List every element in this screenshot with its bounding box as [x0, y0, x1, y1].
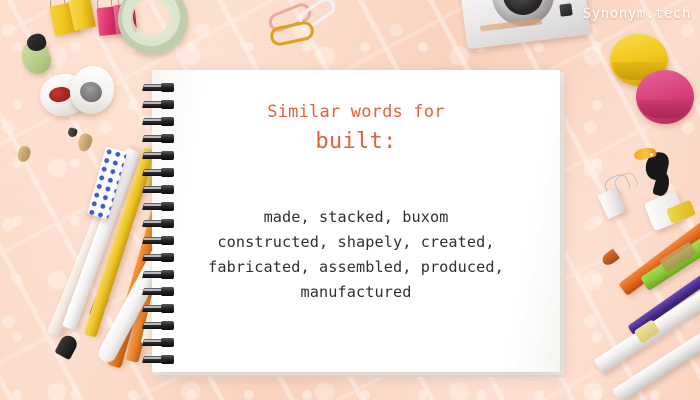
page-title-prefix: Similar words for — [152, 101, 560, 124]
spiral-ring — [143, 339, 181, 346]
camera-button — [559, 3, 572, 16]
spiral-ring-highlight — [144, 119, 162, 121]
spiral-ring-highlight — [144, 323, 162, 325]
synonym-line: constructed, shapely, created, — [178, 230, 534, 255]
synonym-list: made, stacked, buxom constructed, shapel… — [152, 205, 560, 305]
spiral-ring-highlight — [144, 306, 162, 308]
spiral-ring — [143, 322, 181, 329]
spiral-ring-highlight — [144, 136, 162, 138]
spiral-ring-highlight — [144, 340, 162, 342]
spiral-ring — [143, 203, 181, 210]
spiral-ring — [143, 220, 181, 227]
brand-watermark: Synonym.tech — [583, 6, 691, 22]
screenshot-root: Similar words for built: made, stacked, … — [0, 0, 700, 400]
spiral-ring-highlight — [144, 221, 162, 223]
spiral-ring-highlight — [144, 357, 162, 359]
spiral-ring — [143, 101, 181, 108]
spiral-ring-highlight — [144, 255, 162, 257]
spiral-ring-highlight — [144, 153, 162, 155]
spiral-ring-highlight — [144, 204, 162, 206]
spiral-ring-highlight — [144, 238, 162, 240]
spiral-ring-highlight — [144, 289, 162, 291]
spiral-ring — [143, 135, 181, 142]
spiral-ring-highlight — [144, 170, 162, 172]
synonym-line: fabricated, assembled, produced, — [178, 255, 534, 280]
spiral-ring — [143, 254, 181, 261]
synonym-line: made, stacked, buxom — [178, 205, 534, 230]
notebook-spiral-binding — [143, 84, 183, 364]
spiral-ring — [143, 84, 181, 91]
page-keyword: built: — [152, 128, 560, 157]
spiral-ring-highlight — [144, 85, 162, 87]
spiral-ring-highlight — [144, 272, 162, 274]
notebook: Similar words for built: made, stacked, … — [152, 70, 565, 375]
spiral-ring — [143, 237, 181, 244]
spiral-ring — [143, 288, 181, 295]
synonym-line: manufactured — [178, 280, 534, 305]
spiral-ring — [143, 118, 181, 125]
spiral-ring-highlight — [144, 187, 162, 189]
toucan-eye-icon — [650, 153, 653, 156]
spiral-ring — [143, 186, 181, 193]
spiral-ring — [143, 356, 181, 363]
page-content: Similar words for built: made, stacked, … — [152, 70, 560, 305]
spiral-ring — [143, 152, 181, 159]
notebook-page: Similar words for built: made, stacked, … — [152, 70, 560, 372]
spiral-ring — [143, 271, 181, 278]
spiral-ring — [143, 305, 181, 312]
spiral-ring-highlight — [144, 102, 162, 104]
spiral-ring — [143, 169, 181, 176]
